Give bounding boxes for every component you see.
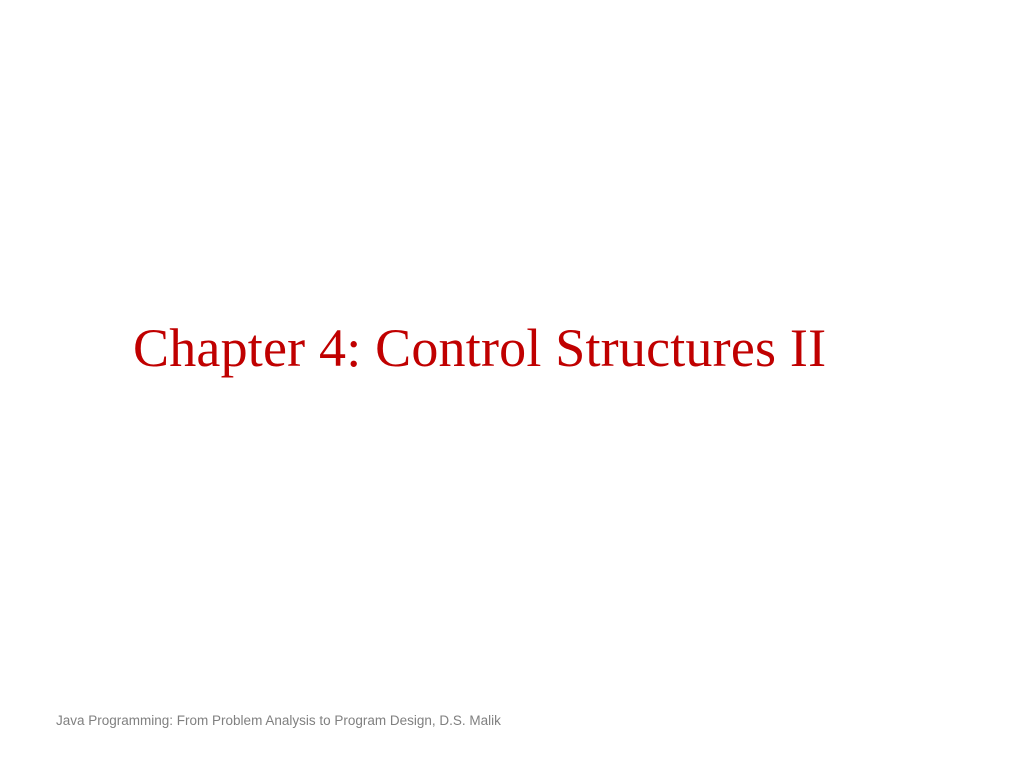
slide-body-placeholder (96, 380, 928, 680)
page-title: Chapter 4: Control Structures II (133, 317, 933, 379)
slide-footer-attribution: Java Programming: From Problem Analysis … (56, 712, 501, 730)
presentation-slide: Chapter 4: Control Structures II Java Pr… (0, 0, 1024, 768)
